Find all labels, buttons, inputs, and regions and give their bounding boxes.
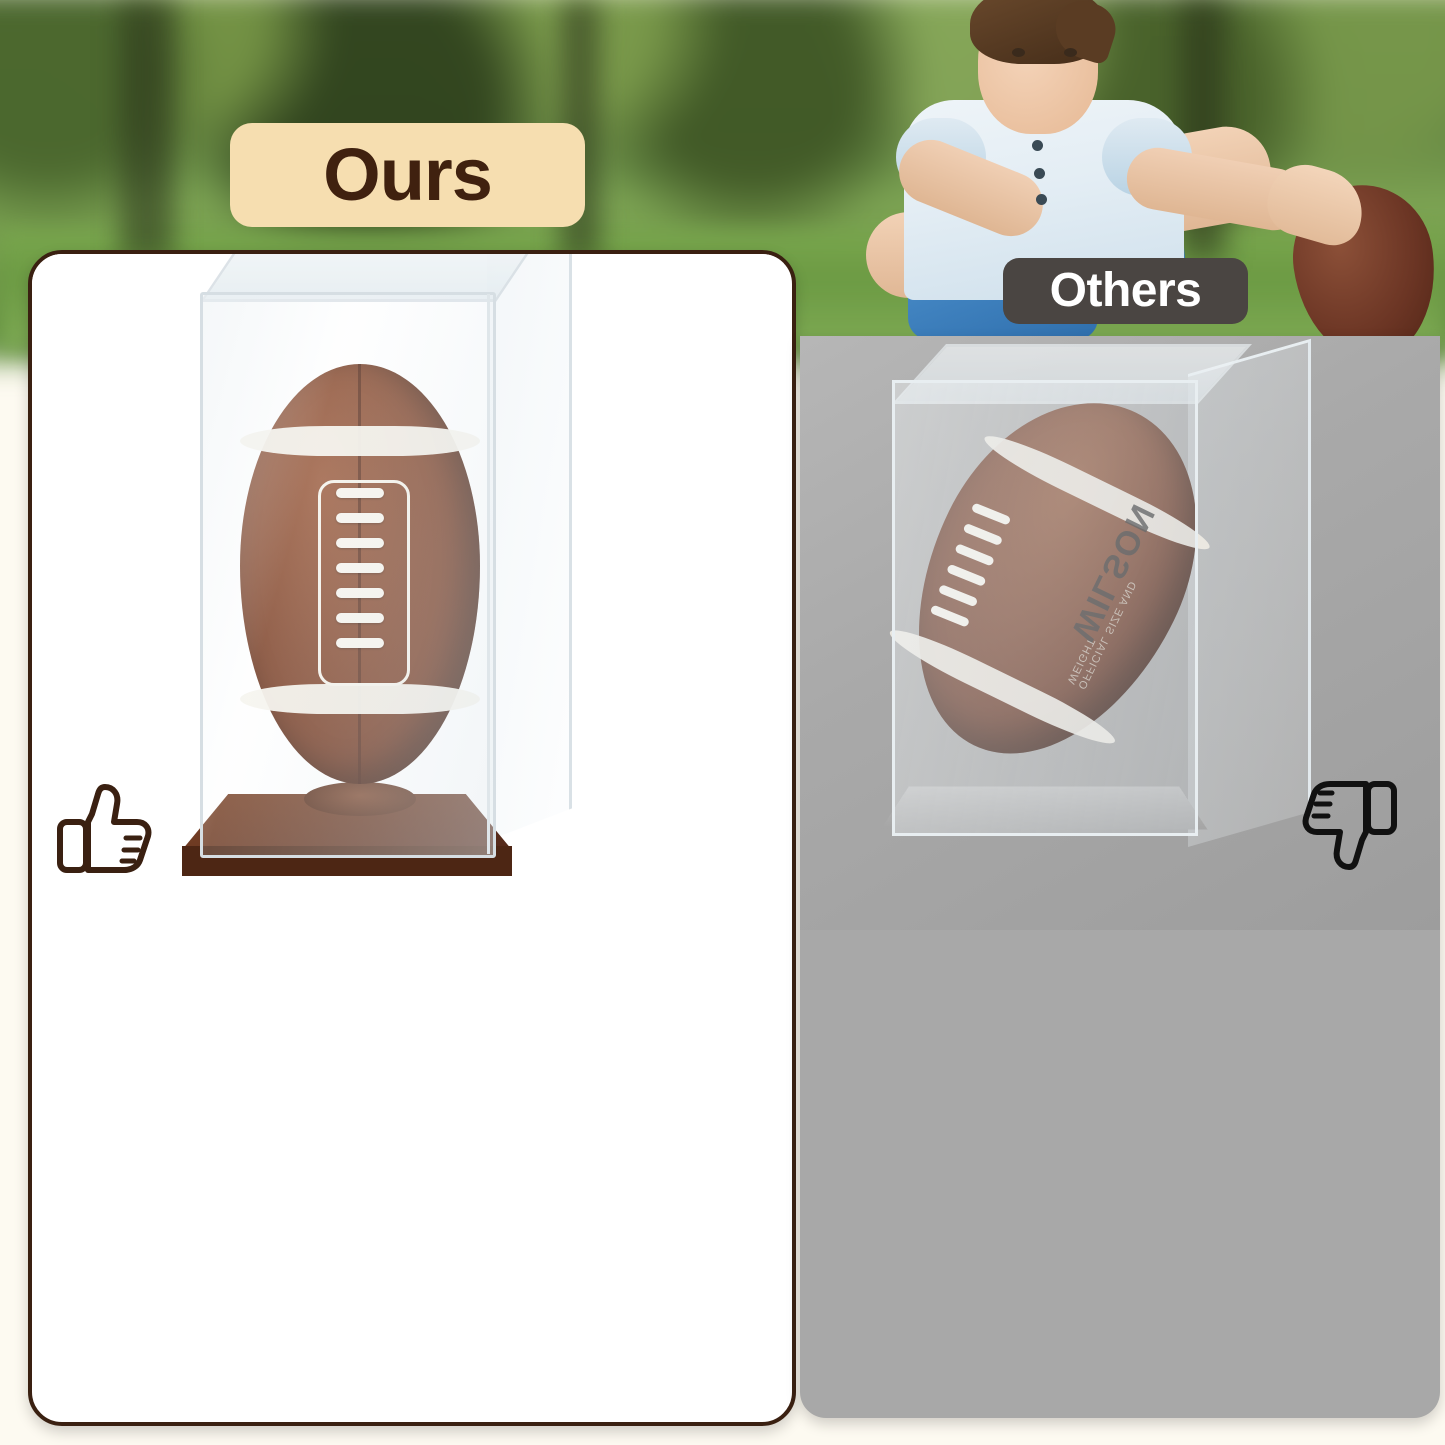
others-case-right-panel [1188,339,1311,847]
others-badge: Others [1003,258,1248,324]
thumbs-up-icon [54,782,158,878]
others-badge-label: Others [1050,267,1202,315]
comparison-table: New pressing method, simple and secure O… [0,935,1445,1419]
boy-shirt-button-2 [1034,168,1045,179]
comparison-infographic: Ours Others [0,0,1445,1445]
ours-case-edge [487,294,490,854]
ours-badge: Ours [230,123,585,227]
ours-case-right-panel [487,250,572,841]
others-case-front-panel [892,380,1198,836]
thumbs-down-icon [1296,776,1400,872]
boy-eye-left [1012,48,1025,57]
tree-trunk-1 [120,0,174,260]
ours-case-front-panel [200,292,496,858]
ours-badge-label: Ours [323,138,492,212]
boy-eye-right [1064,48,1077,57]
boy-shirt-button-3 [1036,194,1047,205]
boy-shirt-button-1 [1032,140,1043,151]
